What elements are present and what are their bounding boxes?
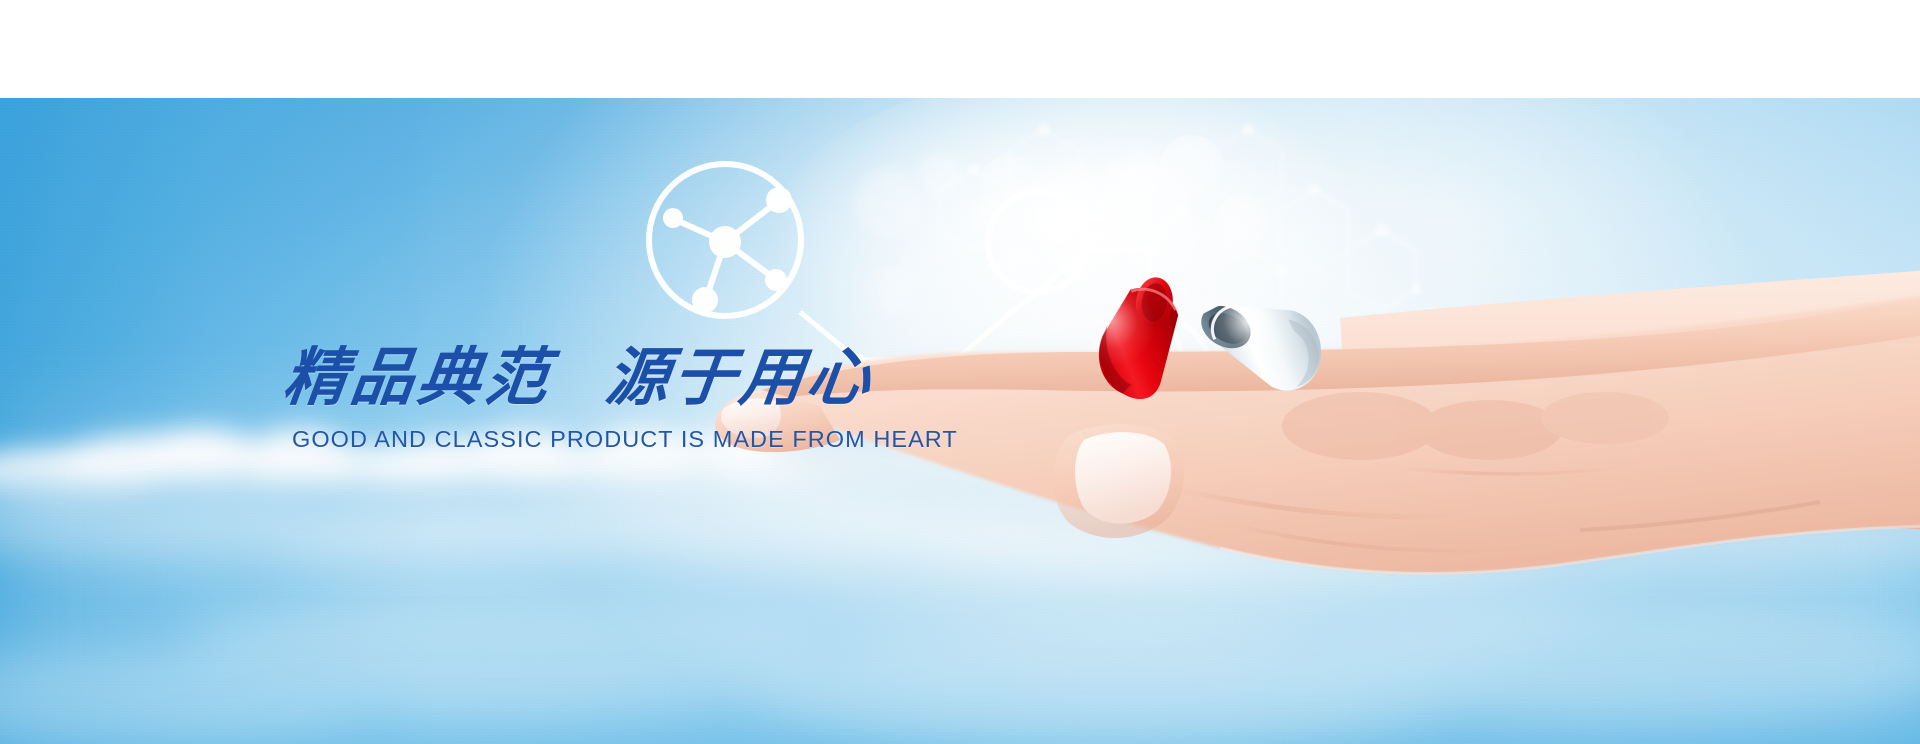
tagline-english: GOOD AND CLASSIC PRODUCT IS MADE FROM HE…	[292, 426, 958, 453]
headline-cn-group1: 精品典范	[280, 346, 556, 409]
top-white-strip	[0, 0, 1920, 98]
headline-block: 精品典范 源于用心 GOOD AND CLASSIC PRODUCT IS MA…	[284, 346, 958, 453]
pharmaceutical-hero-banner: 精品典范 源于用心 GOOD AND CLASSIC PRODUCT IS MA…	[0, 0, 1920, 744]
headline-cn-group2: 源于用心	[602, 346, 878, 409]
headline-chinese: 精品典范 源于用心	[284, 346, 958, 409]
